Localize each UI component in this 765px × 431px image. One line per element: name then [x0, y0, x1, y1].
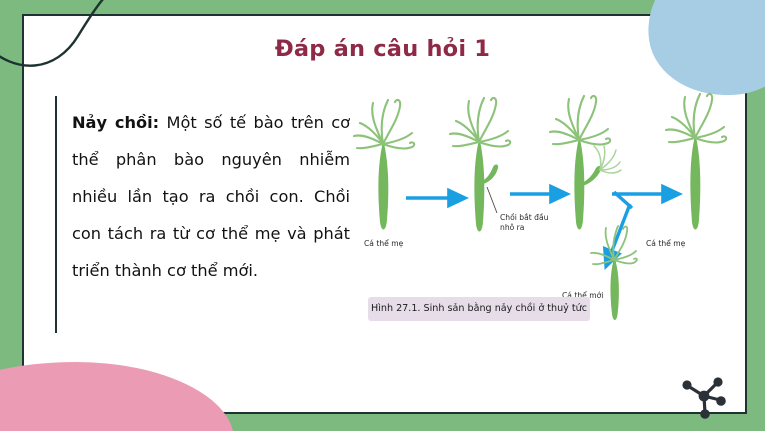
page-title: Đáp án câu hỏi 1	[0, 36, 765, 62]
answer-lead-label: Nảy chồi:	[72, 113, 159, 132]
label-bud-start-line2: nhô ra	[500, 223, 524, 232]
label-parent-1: Cá thể mẹ	[364, 239, 404, 248]
hydra-stage-3	[550, 96, 621, 230]
figure-caption-box: Hình 27.1. Sinh sản bằng nảy chồi ở thuỷ…	[368, 297, 590, 321]
figure-caption-text: Hình 27.1. Sinh sản bằng nảy chồi ở thuỷ…	[368, 297, 590, 321]
hydra-stage-1	[354, 100, 414, 230]
hydra-budding-figure: Cá thể mẹ	[350, 86, 750, 331]
answer-body-label: Một số tế bào trên cơ thể phân bào nguyê…	[72, 113, 350, 280]
hydra-stage-2	[450, 98, 510, 232]
answer-text-rule	[55, 96, 57, 333]
emerging-bud	[482, 164, 498, 184]
molecule-icon	[676, 372, 732, 420]
label-parent-2: Cá thể mẹ	[646, 239, 686, 248]
hydra-stage-4	[666, 94, 726, 230]
hydra-diagram-svg: Cá thể mẹ	[350, 86, 750, 331]
label-bud-start-line1: Chồi bắt đầu	[500, 213, 549, 222]
slide-canvas: Đáp án câu hỏi 1 Nảy chồi: Một số tế bào…	[0, 0, 765, 431]
answer-text-block: Nảy chồi: Một số tế bào trên cơ thể phân…	[72, 104, 350, 289]
hydra-stage-5	[591, 226, 637, 320]
